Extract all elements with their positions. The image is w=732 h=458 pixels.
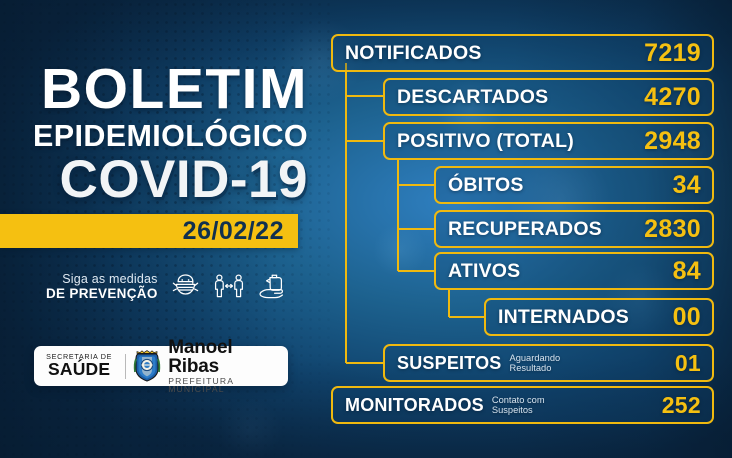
stat-label: RECUPERADOS [448, 218, 602, 241]
left-panel: BOLETIM EPIDEMIOLÓGICO COVID-19 26/02/22… [0, 0, 330, 458]
title-boletim: BOLETIM [0, 62, 308, 118]
prevention-icons [171, 272, 289, 302]
stat-row-suspeitos: SUSPEITOS Aguardando Resultado 01 [383, 344, 714, 382]
stat-subtitle: Contato com Suspeitos [492, 395, 545, 416]
stat-value: 84 [673, 257, 701, 286]
stat-label: NOTIFICADOS [345, 42, 482, 65]
title-covid19: COVID-19 [0, 153, 308, 206]
city-logo: Manoel Ribas PREFEITURA MUNICIPAL [168, 338, 288, 394]
prevention-line1: Siga as medidas [46, 272, 158, 286]
social-distancing-icon [212, 272, 246, 302]
stat-label: POSITIVO (TOTAL) [397, 130, 574, 153]
bulletin-date: 26/02/22 [183, 217, 298, 246]
stat-value: 34 [673, 171, 701, 200]
stat-row-descartados: DESCARTADOS 4270 [383, 78, 714, 116]
stat-row-notificados: NOTIFICADOS 7219 [331, 34, 714, 72]
city-subtitle: PREFEITURA MUNICIPAL [168, 377, 288, 395]
logo-bar: SECRETARIA DE SAÚDE Manoel Ribas PREFEIT… [34, 346, 288, 386]
stat-label: SUSPEITOS [397, 353, 502, 374]
statistics-tree: NOTIFICADOS 7219 DESCARTADOS 4270 POSITI… [330, 0, 732, 458]
hand-sanitizer-icon [257, 272, 289, 302]
logo-divider [125, 354, 126, 379]
stat-label: DESCARTADOS [397, 86, 548, 109]
stat-subtitle: Aguardando Resultado [510, 353, 561, 374]
stat-row-obitos: ÓBITOS 34 [434, 166, 714, 204]
date-banner: 26/02/22 [0, 214, 298, 248]
stat-value: 2948 [644, 127, 701, 156]
stat-label: ATIVOS [448, 260, 520, 283]
stat-label: ÓBITOS [448, 174, 524, 197]
prevention-line2: DE PREVENÇÃO [46, 286, 158, 302]
page-title: BOLETIM EPIDEMIOLÓGICO COVID-19 [0, 62, 308, 206]
prevention-block: Siga as medidas DE PREVENÇÃO [46, 272, 289, 302]
stat-row-positivo-total: POSITIVO (TOTAL) 2948 [383, 122, 714, 160]
stat-row-ativos: ATIVOS 84 [434, 252, 714, 290]
stat-row-monitorados: MONITORADOS Contato com Suspeitos 252 [331, 386, 714, 424]
title-epidemiologico: EPIDEMIOLÓGICO [0, 121, 308, 152]
covid-bulletin-poster: BOLETIM EPIDEMIOLÓGICO COVID-19 26/02/22… [0, 0, 732, 458]
stat-row-internados: INTERNADOS 00 [484, 298, 714, 336]
stat-value: 2830 [644, 215, 701, 244]
stat-value: 252 [662, 392, 701, 419]
health-dept-line2: SAÚDE [40, 361, 118, 379]
city-name: Manoel Ribas [168, 338, 288, 377]
stat-value: 7219 [644, 39, 701, 68]
health-dept-logo: SECRETARIA DE SAÚDE [34, 353, 118, 378]
stat-value: 4270 [644, 83, 701, 112]
coat-of-arms-icon [133, 350, 161, 382]
stat-value: 01 [675, 350, 701, 377]
stat-value: 00 [673, 303, 701, 332]
stat-label: MONITORADOS [345, 395, 484, 416]
prevention-text: Siga as medidas DE PREVENÇÃO [46, 272, 158, 302]
face-mask-icon [171, 272, 201, 302]
stat-row-recuperados: RECUPERADOS 2830 [434, 210, 714, 248]
stat-label: INTERNADOS [498, 306, 629, 329]
